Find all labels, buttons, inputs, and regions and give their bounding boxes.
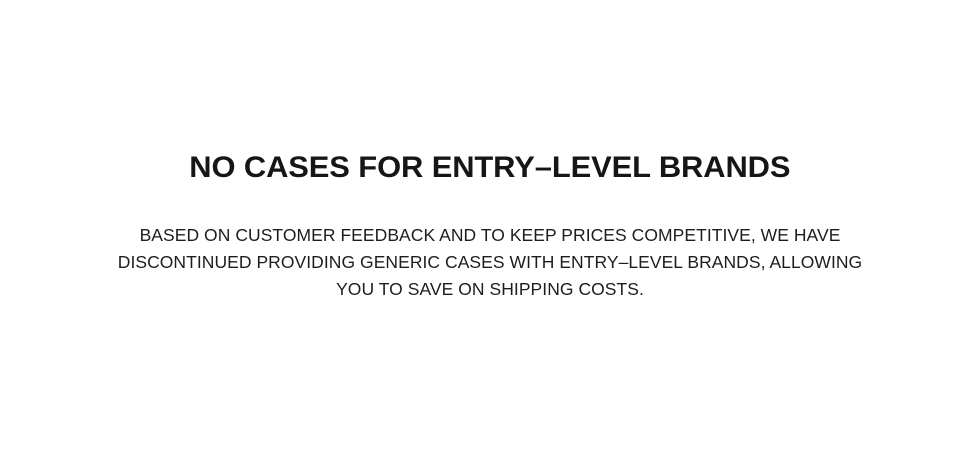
body-line: YOU TO SAVE ON SHIPPING COSTS. [90, 276, 890, 303]
banner-body-text: BASED ON CUSTOMER FEEDBACK AND TO KEEP P… [90, 185, 890, 303]
body-line: DISCONTINUED PROVIDING GENERIC CASES WIT… [90, 249, 890, 276]
promo-banner: NO CASES FOR ENTRY–LEVEL BRANDS BASED ON… [0, 0, 980, 450]
banner-heading: NO CASES FOR ENTRY–LEVEL BRANDS [189, 151, 790, 185]
body-line: BASED ON CUSTOMER FEEDBACK AND TO KEEP P… [90, 222, 890, 249]
